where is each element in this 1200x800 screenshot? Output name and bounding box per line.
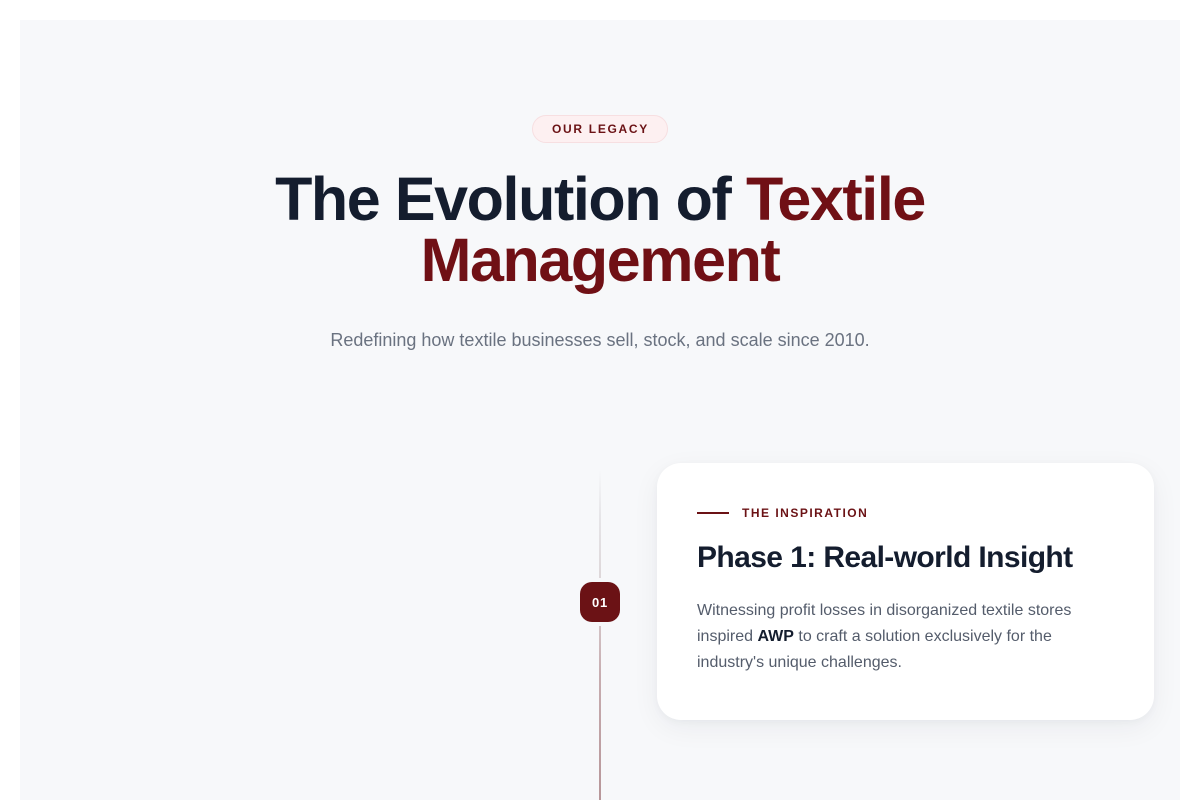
timeline-card-phase-1: THE INSPIRATION Phase 1: Real-world Insi… xyxy=(657,463,1154,720)
card-eyebrow: THE INSPIRATION xyxy=(697,507,1114,519)
dash-icon xyxy=(697,512,729,514)
timeline-marker-01: 01 xyxy=(580,582,620,622)
page-title-lead: The Evolution of xyxy=(275,165,746,233)
page-title: The Evolution of Textile Management xyxy=(20,169,1180,291)
card-title: Phase 1: Real-world Insight xyxy=(697,540,1114,576)
timeline-axis-line xyxy=(599,470,601,800)
hero-section: OUR LEGACY The Evolution of Textile Mana… xyxy=(20,20,1180,354)
hero-subtitle: Redefining how textile businesses sell, … xyxy=(20,327,1180,354)
page-container: OUR LEGACY The Evolution of Textile Mana… xyxy=(20,20,1180,800)
hero-badge: OUR LEGACY xyxy=(532,115,668,143)
card-body-text: Witnessing profit losses in disorganized… xyxy=(697,598,1114,676)
card-eyebrow-label: THE INSPIRATION xyxy=(742,507,868,519)
card-body-brand: AWP xyxy=(757,628,793,645)
